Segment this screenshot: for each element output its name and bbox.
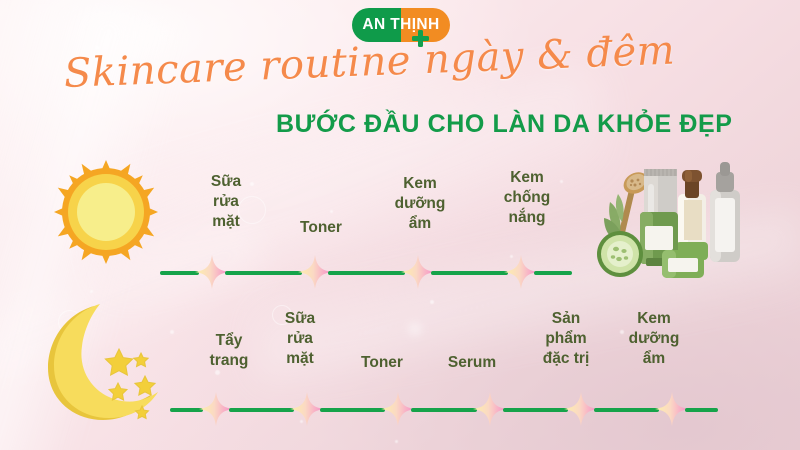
night-step-5: Sản phẩm đặc trị xyxy=(528,309,604,369)
night-step-3-line-1: Toner xyxy=(346,353,418,373)
night-step-2-line-3: mặt xyxy=(270,349,330,369)
day-step-2-line-1: Toner xyxy=(285,218,357,238)
night-step-4: Serum xyxy=(433,353,511,373)
night-step-2: Sữa rửa mặt xyxy=(270,309,330,369)
day-step-4-line-2: chống xyxy=(489,188,565,208)
night-step-6-line-2: dưỡng xyxy=(616,329,692,349)
day-step-4-line-3: nắng xyxy=(489,208,565,228)
bokeh-dot xyxy=(90,290,93,293)
four-point-sparkle-icon xyxy=(564,392,598,426)
night-step-1: Tẩy trang xyxy=(198,331,260,371)
bokeh-dot xyxy=(430,300,434,304)
day-step-1: Sữa rửa mặt xyxy=(196,172,256,232)
night-step-1-line-2: trang xyxy=(198,351,260,371)
day-step-1-line-2: rửa xyxy=(196,192,256,212)
day-step-3-line-2: dưỡng xyxy=(384,194,456,214)
night-divider xyxy=(170,392,718,426)
night-step-5-line-2: phẩm xyxy=(528,329,604,349)
four-point-sparkle-icon xyxy=(290,392,324,426)
night-step-6: Kem dưỡng ẩm xyxy=(616,309,692,369)
day-step-2: Toner xyxy=(285,218,357,238)
moon-stars-icon xyxy=(48,300,164,420)
four-point-sparkle-icon xyxy=(298,255,332,289)
bokeh-glow xyxy=(408,322,422,336)
four-point-sparkle-icon xyxy=(655,392,689,426)
day-step-3-line-3: ẩm xyxy=(384,214,456,234)
night-step-3: Toner xyxy=(346,353,418,373)
poster-canvas: AN THỊNH Skincare routine ngày & đêm BƯỚ… xyxy=(0,0,800,450)
bokeh-dot xyxy=(395,440,398,443)
day-divider xyxy=(160,255,572,289)
day-step-4-line-1: Kem xyxy=(489,168,565,188)
day-step-1-line-3: mặt xyxy=(196,212,256,232)
day-step-3-line-1: Kem xyxy=(384,174,456,194)
bokeh-dot xyxy=(330,210,333,213)
night-step-5-line-1: Sản xyxy=(528,309,604,329)
night-step-6-line-1: Kem xyxy=(616,309,692,329)
four-point-sparkle-icon xyxy=(504,255,538,289)
page-subtitle: BƯỚC ĐẦU CHO LÀN DA KHỎE ĐẸP xyxy=(276,110,733,139)
night-step-4-line-1: Serum xyxy=(433,353,511,373)
night-step-1-line-1: Tẩy xyxy=(198,331,260,351)
day-step-1-line-1: Sữa xyxy=(196,172,256,192)
four-point-sparkle-icon xyxy=(199,392,233,426)
day-step-4: Kem chống nắng xyxy=(489,168,565,228)
four-point-sparkle-icon xyxy=(381,392,415,426)
four-point-sparkle-icon xyxy=(401,255,435,289)
night-step-6-line-3: ẩm xyxy=(616,349,692,369)
four-point-sparkle-icon xyxy=(473,392,507,426)
bokeh-dot xyxy=(170,330,174,334)
night-step-2-line-2: rửa xyxy=(270,329,330,349)
skincare-products-illustration xyxy=(588,150,750,280)
day-step-3: Kem dưỡng ẩm xyxy=(384,174,456,234)
page-title-script: Skincare routine ngày & đêm xyxy=(63,27,625,100)
night-step-5-line-3: đặc trị xyxy=(528,349,604,369)
night-step-2-line-1: Sữa xyxy=(270,309,330,329)
sun-core xyxy=(77,183,135,241)
sun-icon xyxy=(54,160,158,264)
four-point-sparkle-icon xyxy=(195,255,229,289)
